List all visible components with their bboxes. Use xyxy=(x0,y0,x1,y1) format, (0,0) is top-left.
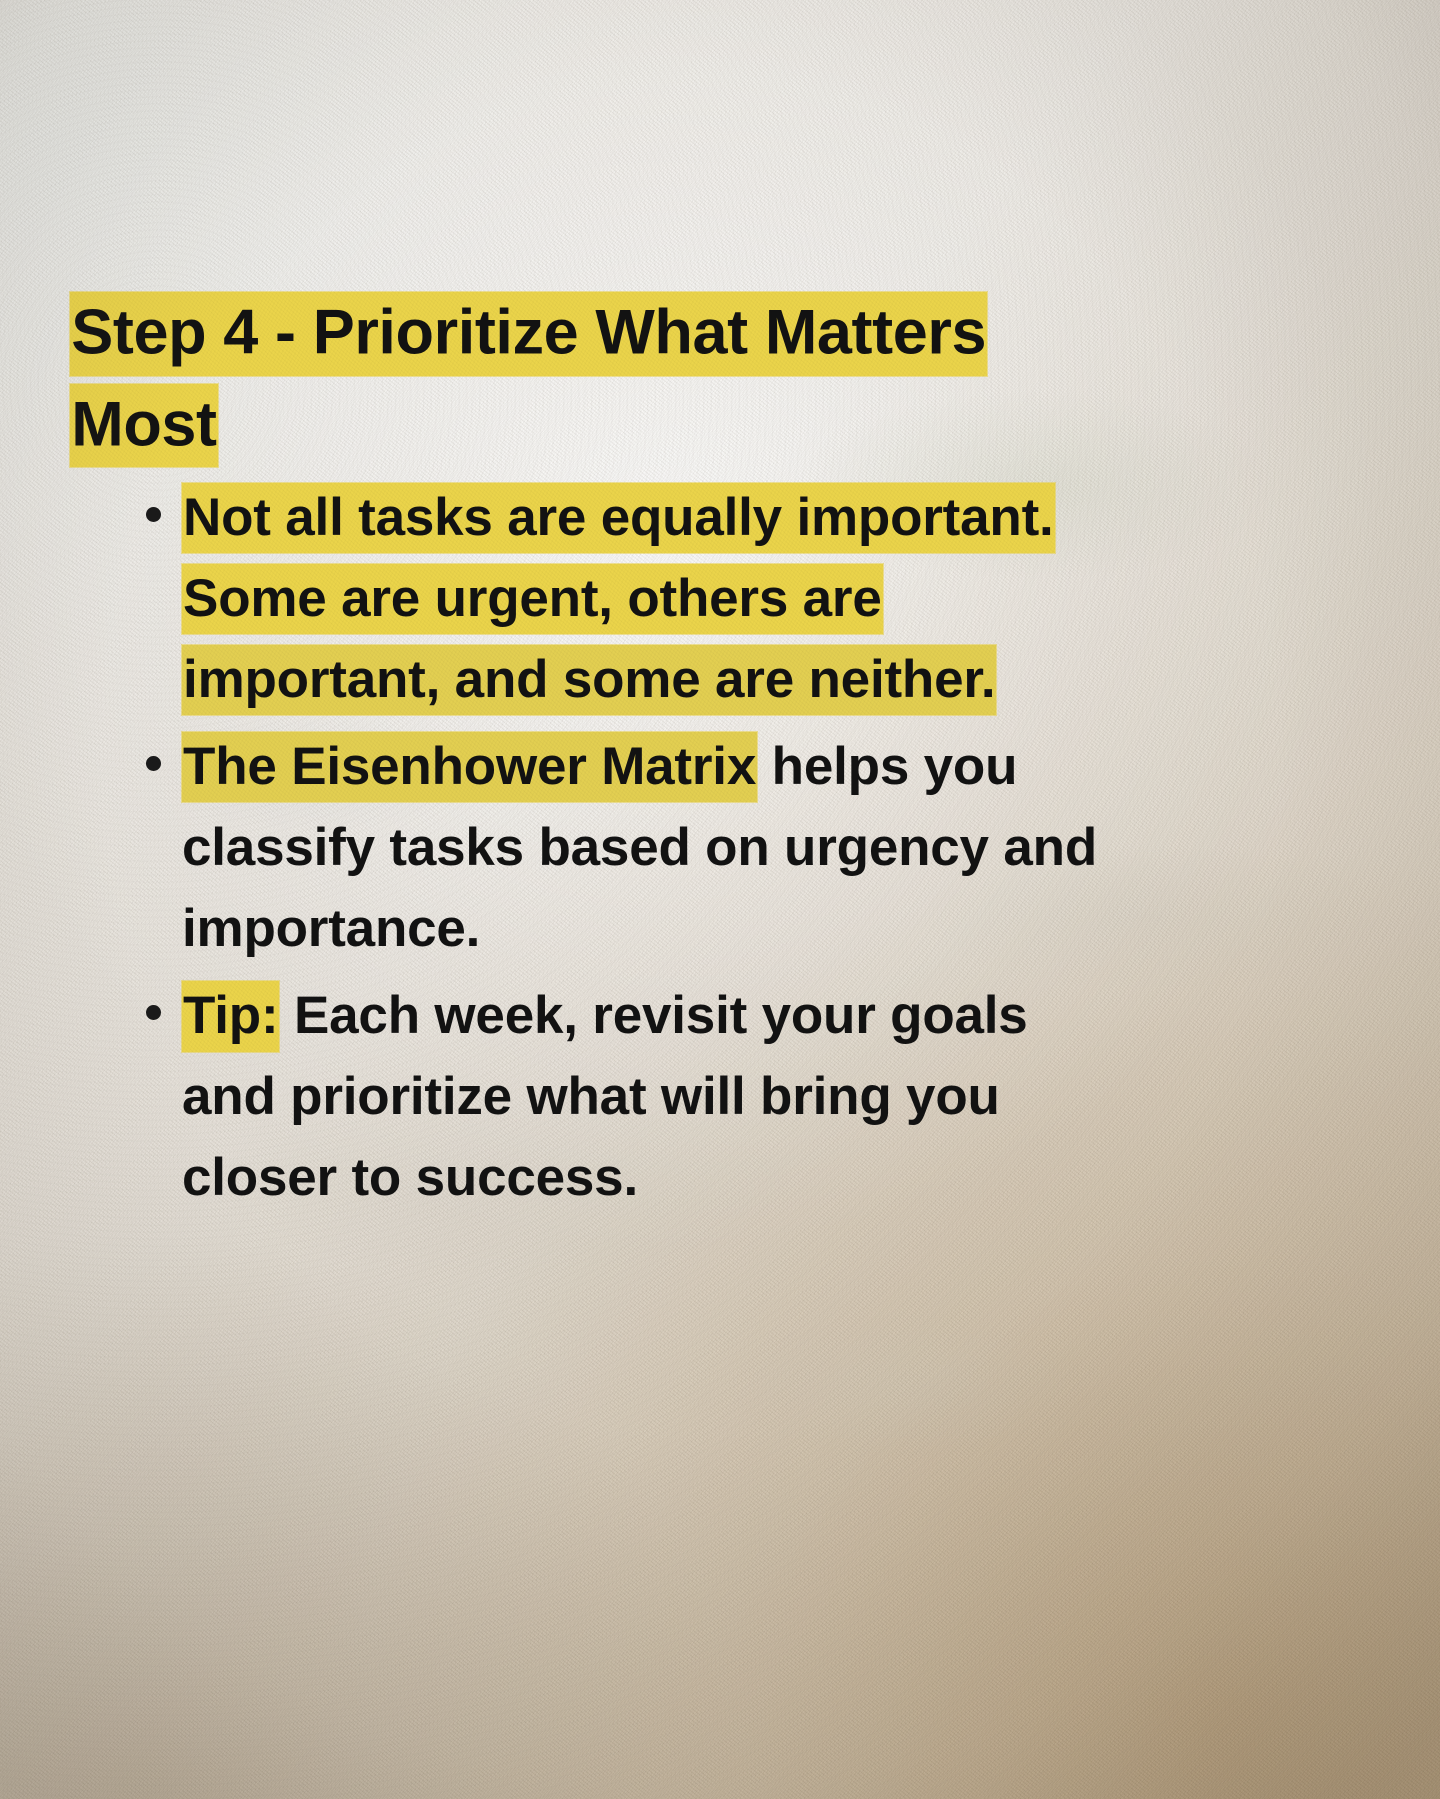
bullet-3-line-1: Tip: Each week, revisit your goals xyxy=(182,975,1180,1056)
bullet-3-line-2: and prioritize what will bring you xyxy=(182,1056,1180,1137)
bullet-dot-icon xyxy=(146,1005,161,1020)
bullet-1-line-2: Some are urgent, others are xyxy=(182,558,1180,639)
page-title: Step 4 - Prioritize What Matters Most xyxy=(70,288,1180,471)
page-content: Step 4 - Prioritize What Matters Most No… xyxy=(70,288,1180,1224)
bullet-1-highlight-1: Not all tasks are equally important. xyxy=(182,483,1055,553)
bullet-dot-icon xyxy=(146,507,161,522)
bullet-2-line-2: classify tasks based on urgency and xyxy=(182,807,1180,888)
page-title-line-1: Step 4 - Prioritize What Matters xyxy=(70,288,1180,379)
bullet-2-plain-2: classify tasks based on urgency and xyxy=(182,818,1097,877)
page-title-highlight-1: Step 4 - Prioritize What Matters xyxy=(70,292,987,375)
bullet-2-line-3: importance. xyxy=(182,888,1180,969)
bullet-3-plain-3: closer to success. xyxy=(182,1148,638,1207)
bullet-2-plain-3: importance. xyxy=(182,899,480,958)
bullet-3-plain-1: Each week, revisit your goals xyxy=(279,986,1027,1045)
bullet-list: Not all tasks are equally important. Som… xyxy=(70,477,1180,1219)
bullet-1-line-3: important, and some are neither. xyxy=(182,639,1180,720)
bullet-3-plain-2: and prioritize what will bring you xyxy=(182,1067,1000,1126)
photographed-page: Step 4 - Prioritize What Matters Most No… xyxy=(0,0,1440,1799)
bullet-3-line-3: closer to success. xyxy=(182,1137,1180,1218)
bullet-2-highlight-1: The Eisenhower Matrix xyxy=(182,732,757,802)
list-item: The Eisenhower Matrix helps you classify… xyxy=(70,726,1180,969)
list-item: Not all tasks are equally important. Som… xyxy=(70,477,1180,720)
bullet-1-line-1: Not all tasks are equally important. xyxy=(182,477,1180,558)
page-title-highlight-2: Most xyxy=(70,384,218,467)
list-item: Tip: Each week, revisit your goals and p… xyxy=(70,975,1180,1218)
bullet-3-highlight-1: Tip: xyxy=(182,981,279,1051)
page-title-line-2: Most xyxy=(70,379,1180,470)
bullet-1-highlight-3: important, and some are neither. xyxy=(182,645,996,715)
bullet-dot-icon xyxy=(146,756,161,771)
bullet-2-plain-1: helps you xyxy=(757,737,1017,796)
bullet-2-line-1: The Eisenhower Matrix helps you xyxy=(182,726,1180,807)
bullet-1-highlight-2: Some are urgent, others are xyxy=(182,564,883,634)
